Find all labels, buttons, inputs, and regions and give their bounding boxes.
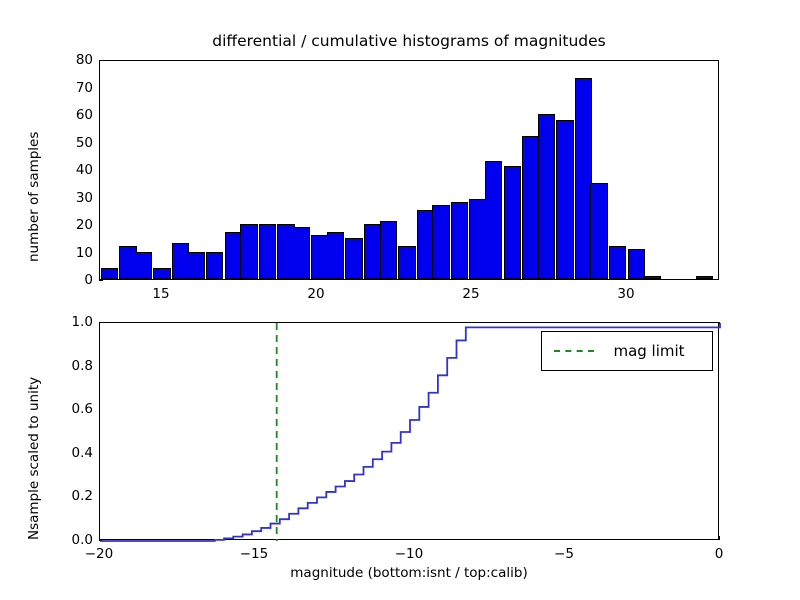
top-xtick-label: 20 (307, 286, 324, 302)
top-ytick-label: 40 (59, 162, 93, 178)
top-ytick-label: 30 (59, 190, 93, 206)
histogram-bar (101, 268, 119, 279)
histogram-bar (135, 252, 153, 280)
histogram-bar (293, 227, 311, 279)
histogram-bar (153, 268, 171, 279)
histogram-bar (345, 238, 363, 279)
figure-title: differential / cumulative histograms of … (99, 32, 719, 50)
histogram-bar (628, 249, 646, 279)
top-panel-ylabel: number of samples (26, 132, 42, 262)
bottom-ytick-label: 1.0 (55, 314, 93, 330)
histogram-bar (590, 183, 608, 279)
histogram-bar (259, 224, 277, 279)
bottom-xtick-label: 0 (715, 546, 724, 562)
figure-canvas: differential / cumulative histograms of … (0, 0, 800, 600)
bottom-ytick-label: 0.2 (55, 488, 93, 504)
histogram-bar (398, 246, 416, 279)
top-ytick-label: 50 (59, 135, 93, 151)
bottom-panel-ylabel: Nsample scaled to unity (26, 377, 42, 540)
histogram-bar (451, 202, 469, 279)
histogram-bar (643, 276, 661, 279)
histogram-bar (327, 232, 345, 279)
histogram-bar (380, 221, 398, 279)
legend-mag-limit-label: mag limit (594, 342, 712, 360)
bottom-xtick-label: −10 (395, 546, 424, 562)
top-ytick-mark (99, 280, 103, 281)
histogram-bar (240, 224, 258, 279)
histogram-bar (609, 246, 627, 279)
bottom-xtick-label: −20 (85, 546, 114, 562)
bottom-xtick-label: −5 (554, 546, 574, 562)
histogram-bar (696, 276, 714, 279)
bottom-ytick-label: 0.6 (55, 401, 93, 417)
legend-box[interactable]: mag limit (541, 331, 713, 371)
top-xtick-label: 25 (462, 286, 479, 302)
histogram-bar (556, 120, 574, 280)
histogram-bar (432, 205, 450, 279)
top-ytick-label: 60 (59, 107, 93, 123)
histogram-bar (485, 161, 503, 279)
legend-mag-limit-swatch (554, 350, 594, 352)
top-ytick-label: 20 (59, 217, 93, 233)
top-xtick-label: 15 (152, 286, 169, 302)
top-panel-axes (99, 60, 719, 280)
histogram-bar (504, 166, 522, 279)
bottom-ytick-label: 0.8 (55, 358, 93, 374)
bottom-xtick-label: −15 (240, 546, 269, 562)
top-ytick-label: 10 (59, 245, 93, 261)
top-xtick-label: 30 (617, 286, 634, 302)
histogram-bar (187, 252, 205, 280)
bottom-panel-xlabel: magnitude (bottom:isnt / top:calib) (99, 565, 719, 581)
histogram-bar (538, 114, 556, 279)
top-ytick-label: 0 (59, 272, 93, 288)
histogram-bar (206, 252, 224, 280)
top-ytick-label: 70 (59, 80, 93, 96)
bottom-ytick-label: 0.4 (55, 445, 93, 461)
top-ytick-label: 80 (59, 52, 93, 68)
